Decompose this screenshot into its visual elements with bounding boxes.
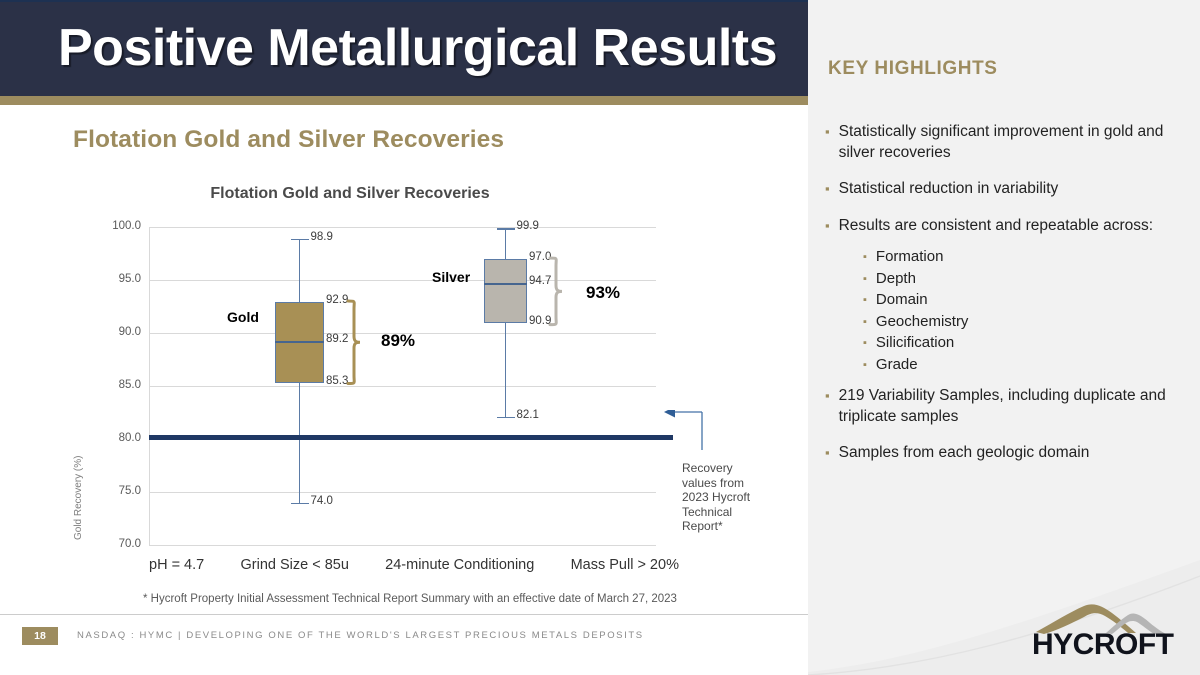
y-axis-tick-label: 90.0 [89, 326, 141, 338]
highlight-sub-bullet: ▪Geochemistry [863, 313, 1185, 332]
chart-gridline [149, 280, 656, 281]
highlight-sub-bullet: ▪Depth [863, 270, 1185, 289]
highlight-bullet-label: Statistically significant improvement in… [839, 122, 1185, 163]
whisker-cap-upper [291, 239, 309, 241]
y-axis-tick-label: 100.0 [89, 220, 141, 232]
title-banner: Positive Metallurgical Results [0, 0, 808, 98]
reference-note-line: values from [682, 476, 766, 491]
series-name-label: Silver [432, 269, 470, 285]
bullet-marker-icon: ▪ [825, 122, 830, 142]
highlight-sublist: ▪Formation▪Depth▪Domain▪Geochemistry▪Sil… [825, 248, 1185, 374]
page-title: Positive Metallurgical Results [58, 18, 777, 78]
title-accent-bar [0, 96, 808, 105]
whisker-cap-lower [291, 503, 309, 505]
section-heading: Flotation Gold and Silver Recoveries [73, 126, 504, 154]
footnote: * Hycroft Property Initial Assessment Te… [143, 593, 677, 605]
sub-bullet-marker-icon: ▪ [863, 270, 867, 288]
chart-gridline [149, 386, 656, 387]
reference-line-note: Recoveryvalues from2023 HycroftTechnical… [682, 461, 766, 534]
sub-bullet-marker-icon: ▪ [863, 248, 867, 266]
reference-note-line: 2023 Hycroft [682, 490, 766, 505]
y-axis-tick-label: 70.0 [89, 538, 141, 550]
highlight-sub-bullet: ▪Domain [863, 291, 1185, 310]
chart-gridline [149, 545, 656, 546]
sub-bullet-marker-icon: ▪ [863, 313, 867, 331]
highlight-sub-bullet-label: Depth [876, 270, 916, 289]
logo-wordmark: HYCROFT [1032, 628, 1174, 662]
chart-title: Flotation Gold and Silver Recoveries [0, 185, 700, 203]
boxplot-value-label: 98.9 [311, 231, 333, 243]
highlight-sub-bullet: ▪Grade [863, 356, 1185, 375]
bullet-marker-icon: ▪ [825, 443, 830, 463]
average-recovery-label: 93% [586, 283, 620, 303]
highlight-sub-bullet-label: Silicification [876, 334, 954, 353]
highlight-sub-bullet-label: Geochemistry [876, 313, 969, 332]
reference-note-line: Report* [682, 519, 766, 534]
highlight-bullet-label: Results are consistent and repeatable ac… [839, 216, 1153, 237]
boxplot-box [484, 259, 527, 324]
series-name-label: Gold [227, 309, 259, 325]
bullet-marker-icon: ▪ [825, 386, 830, 406]
y-axis-label: Gold Recovery (%) [73, 456, 84, 540]
boxplot-value-label: 99.9 [517, 220, 539, 232]
chart-container: Flotation Gold and Silver Recoveries Gol… [0, 185, 808, 585]
chart-gridline [149, 492, 656, 493]
x-axis-condition-label: Mass Pull > 20% [571, 557, 679, 573]
highlights-list: ▪Statistically significant improvement i… [825, 122, 1185, 480]
range-brace-icon [547, 255, 565, 328]
x-axis-condition-label: Grind Size < 85u [240, 557, 348, 573]
boxplot-value-label: 82.1 [517, 409, 539, 421]
highlight-bullet-label: Statistical reduction in variability [839, 179, 1059, 200]
median-line [275, 341, 324, 343]
whisker-cap-lower [497, 417, 515, 419]
y-axis-ticks: 100.095.090.085.080.075.070.0 [89, 227, 141, 545]
sidebar-heading: KEY HIGHLIGHTS [828, 58, 998, 80]
x-axis-condition-label: pH = 4.7 [149, 557, 204, 573]
reference-note-line: Recovery [682, 461, 766, 476]
reference-note-line: Technical [682, 505, 766, 520]
y-axis-tick-label: 85.0 [89, 379, 141, 391]
chart-gridline [149, 227, 656, 228]
highlight-bullet: ▪219 Variability Samples, including dupl… [825, 386, 1185, 427]
bullet-marker-icon: ▪ [825, 216, 830, 236]
highlight-bullet-label: 219 Variability Samples, including dupli… [839, 386, 1185, 427]
highlight-sub-bullet: ▪Formation [863, 248, 1185, 267]
slide-root: Positive Metallurgical Results Flotation… [0, 0, 1200, 675]
x-axis-condition-label: 24-minute Conditioning [385, 557, 534, 573]
highlight-sub-bullet-label: Formation [876, 248, 944, 267]
highlight-bullet: ▪Results are consistent and repeatable a… [825, 216, 1185, 237]
whisker-cap-upper [497, 228, 515, 230]
plot-area: 98.992.989.285.374.0Gold89%99.997.094.79… [149, 227, 656, 545]
average-recovery-label: 89% [381, 331, 415, 351]
highlight-sub-bullet-label: Grade [876, 356, 918, 375]
reference-line [149, 435, 673, 440]
highlight-sub-bullet: ▪Silicification [863, 334, 1185, 353]
highlight-bullet: ▪Statistically significant improvement i… [825, 122, 1185, 163]
range-brace-icon [345, 298, 363, 387]
median-line [484, 283, 527, 285]
y-axis-tick-label: 75.0 [89, 485, 141, 497]
x-axis-condition-labels: pH = 4.7Grind Size < 85u24-minute Condit… [149, 557, 679, 573]
highlight-bullet-label: Samples from each geologic domain [839, 443, 1090, 464]
sub-bullet-marker-icon: ▪ [863, 356, 867, 374]
footer-divider [0, 614, 808, 615]
y-axis-tick-label: 95.0 [89, 273, 141, 285]
page-number-badge: 18 [22, 627, 58, 645]
footer-tagline: NASDAQ : HYMC | DEVELOPING ONE OF THE WO… [77, 630, 644, 641]
highlight-sub-bullet-label: Domain [876, 291, 928, 310]
sub-bullet-marker-icon: ▪ [863, 291, 867, 309]
highlight-bullet: ▪Statistical reduction in variability [825, 179, 1185, 200]
highlight-bullet: ▪Samples from each geologic domain [825, 443, 1185, 464]
sub-bullet-marker-icon: ▪ [863, 334, 867, 352]
y-axis-tick-label: 80.0 [89, 432, 141, 444]
boxplot-value-label: 74.0 [311, 495, 333, 507]
bullet-marker-icon: ▪ [825, 179, 830, 199]
